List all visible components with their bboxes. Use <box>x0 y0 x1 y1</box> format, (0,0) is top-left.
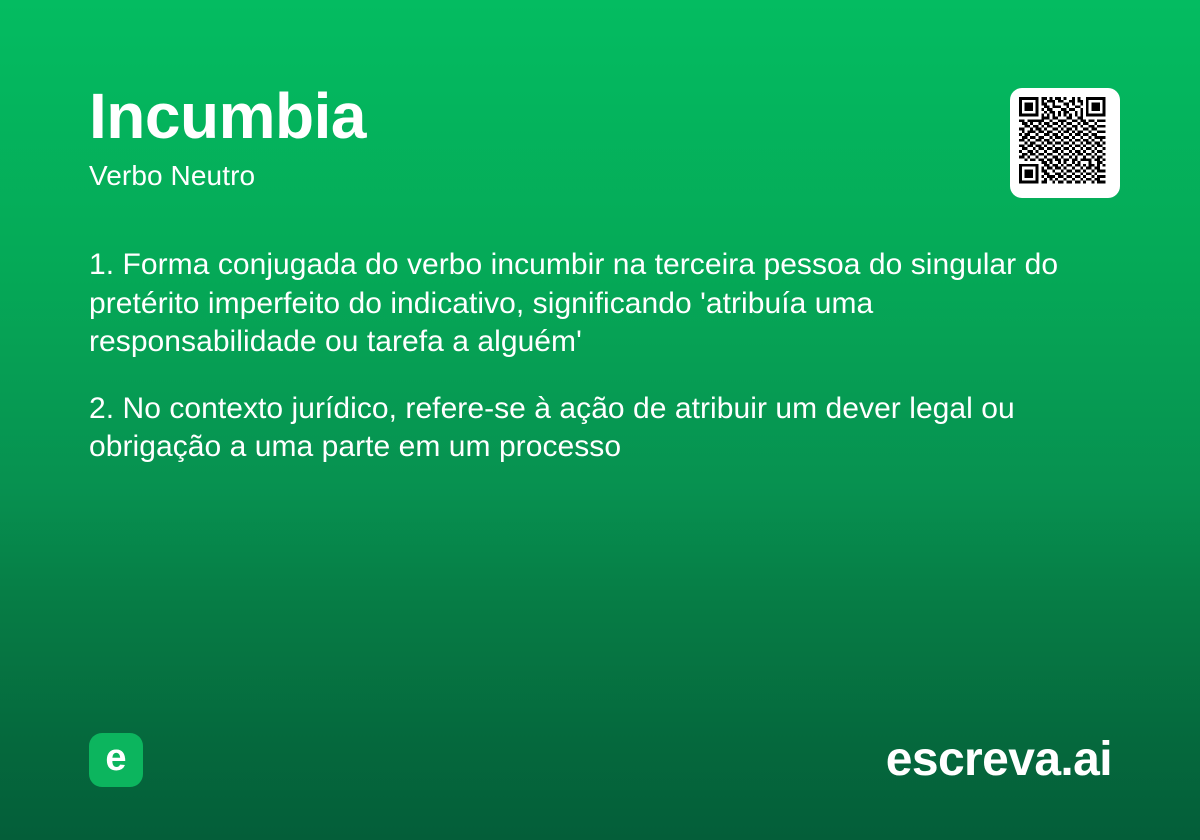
brand-wordmark: escreva.ai <box>886 736 1112 784</box>
footer: e escreva.ai <box>89 732 1112 788</box>
definition-list: 1. Forma conjugada do verbo incumbir na … <box>89 246 1069 467</box>
logo-letter: e <box>105 739 126 777</box>
page-title: Incumbia <box>89 84 1111 148</box>
word-class-label: Verbo Neutro <box>89 148 1111 190</box>
logo-icon[interactable]: e <box>89 733 143 787</box>
definition-item: 1. Forma conjugada do verbo incumbir na … <box>89 246 1069 362</box>
qr-code[interactable] <box>1010 88 1120 198</box>
definition-item: 2. No contexto jurídico, refere-se à açã… <box>89 390 1069 467</box>
dictionary-card: Incumbia Verbo Neutro 1. Forma conjugada… <box>0 0 1200 840</box>
entry-header: Incumbia Verbo Neutro <box>89 84 1111 190</box>
qr-code-icon <box>1019 97 1111 189</box>
